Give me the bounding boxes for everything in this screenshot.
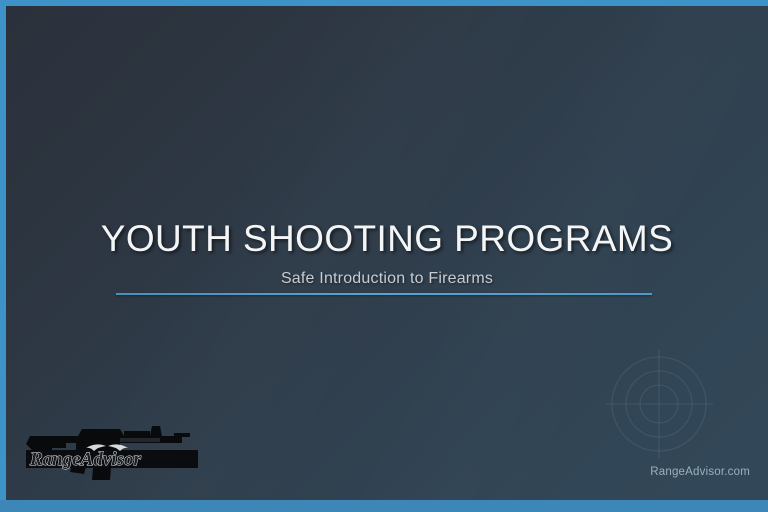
footer-url: RangeAdvisor.com — [650, 466, 750, 478]
rangeadvisor-logo: RangeAdvisor — [24, 420, 200, 486]
logo-wordmark: RangeAdvisor — [29, 449, 141, 470]
page-title: YOUTH SHOOTING PROGRAMS — [6, 220, 768, 259]
slide-border-top — [0, 0, 768, 6]
slide-canvas: YOUTH SHOOTING PROGRAMS Safe Introductio… — [6, 6, 768, 500]
slide-border-left — [0, 0, 6, 512]
title-block: YOUTH SHOOTING PROGRAMS Safe Introductio… — [6, 220, 768, 288]
presentation-slide: YOUTH SHOOTING PROGRAMS Safe Introductio… — [0, 0, 768, 512]
crosshair-target-icon — [605, 350, 713, 458]
page-subtitle: Safe Introduction to Firearms — [6, 270, 768, 288]
accent-divider — [116, 293, 652, 295]
slide-border-bottom — [0, 500, 768, 512]
